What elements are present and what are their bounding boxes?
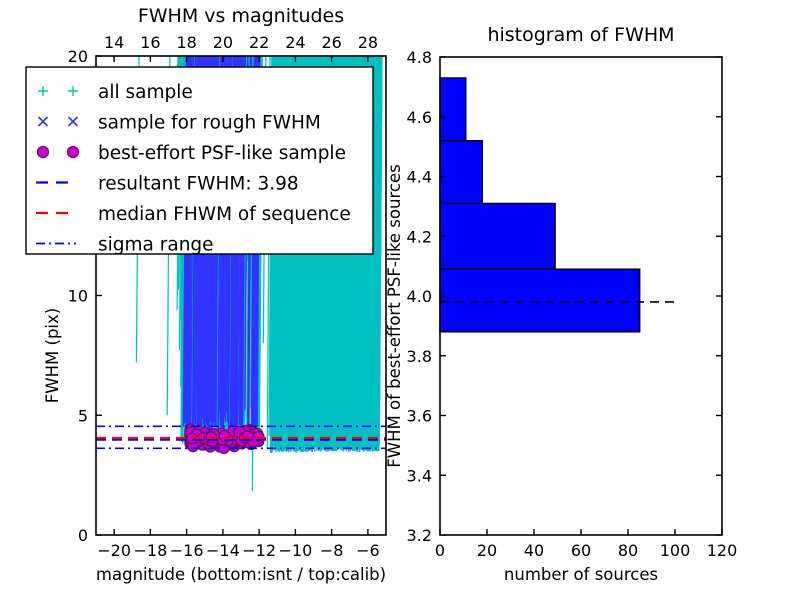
xtick-label-top: 14 (104, 33, 124, 52)
ytick-label-left: 0 (78, 526, 88, 545)
hist-bar (440, 269, 640, 332)
xtick-label-bottom: −12 (242, 541, 276, 560)
hist-xtick-label: 0 (435, 541, 445, 560)
hist-xtick-label: 80 (618, 541, 638, 560)
xtick-label-bottom: −14 (206, 541, 240, 560)
histogram-data-layer (440, 78, 680, 332)
histogram-plot-title: histogram of FWHM (487, 24, 674, 46)
hist-ytick-label: 4.2 (407, 227, 432, 246)
xtick-label-top: 26 (321, 33, 341, 52)
filled-circle-icon (37, 146, 48, 157)
hist-xtick-label: 120 (707, 541, 738, 560)
legend-label: resultant FWHM: 3.98 (98, 174, 299, 195)
hist-bar (440, 203, 555, 269)
matplotlib-figure: −20−18−16−14−12−10−8−6141618202224262805… (0, 0, 800, 600)
hist-ytick-label: 3.6 (407, 407, 432, 426)
xtick-label-top: 18 (176, 33, 196, 52)
legend-label: sample for rough FWHM (98, 113, 321, 134)
scatter-ylabel: FWHM (pix) (43, 308, 62, 403)
legend-label: all sample (98, 82, 193, 103)
ytick-label-left: 5 (78, 406, 88, 425)
hist-bar (440, 141, 482, 204)
hist-xtick-label: 100 (660, 541, 691, 560)
legend-label: best-effort PSF-like sample (98, 143, 346, 164)
xtick-label-top: 22 (249, 33, 269, 52)
hist-ytick-label: 3.2 (407, 526, 432, 545)
hist-xtick-label: 20 (477, 541, 497, 560)
xtick-label-bottom: −6 (356, 541, 380, 560)
xtick-label-bottom: −18 (133, 541, 167, 560)
histogram-ylabel: FWHM of best-effort PSF-like sources (385, 164, 404, 467)
legend-label: median FHWM of sequence (98, 204, 351, 225)
legend-label: sigma range (98, 235, 214, 256)
histogram-xlabel: number of sources (504, 565, 658, 584)
plot-canvas: −20−18−16−14−12−10−8−6141618202224262805… (0, 0, 800, 600)
hist-ytick-label: 4.0 (407, 287, 432, 306)
hist-xtick-label: 40 (524, 541, 544, 560)
hist-xtick-label: 60 (571, 541, 591, 560)
xtick-label-top: 24 (285, 33, 305, 52)
xtick-label-top: 20 (213, 33, 233, 52)
hist-bar (440, 78, 466, 141)
xtick-label-bottom: −8 (320, 541, 344, 560)
scatter-xlabel: magnitude (bottom:isnt / top:calib) (96, 565, 386, 584)
hist-ytick-label: 3.8 (407, 347, 432, 366)
xtick-label-bottom: −16 (170, 541, 204, 560)
hist-ytick-label: 3.4 (407, 466, 432, 485)
xtick-label-bottom: −20 (97, 541, 131, 560)
hist-ytick-label: 4.4 (407, 168, 432, 187)
filled-circle-icon (67, 146, 78, 157)
scatter-plot-title: FWHM vs magnitudes (138, 5, 344, 27)
hist-ytick-label: 4.8 (407, 48, 432, 67)
xtick-label-top: 28 (358, 33, 378, 52)
hist-ytick-label: 4.6 (407, 108, 432, 127)
xtick-label-bottom: −10 (278, 541, 312, 560)
ytick-label-left: 10 (68, 287, 88, 306)
xtick-label-top: 16 (140, 33, 160, 52)
ytick-label-left: 20 (68, 47, 88, 66)
